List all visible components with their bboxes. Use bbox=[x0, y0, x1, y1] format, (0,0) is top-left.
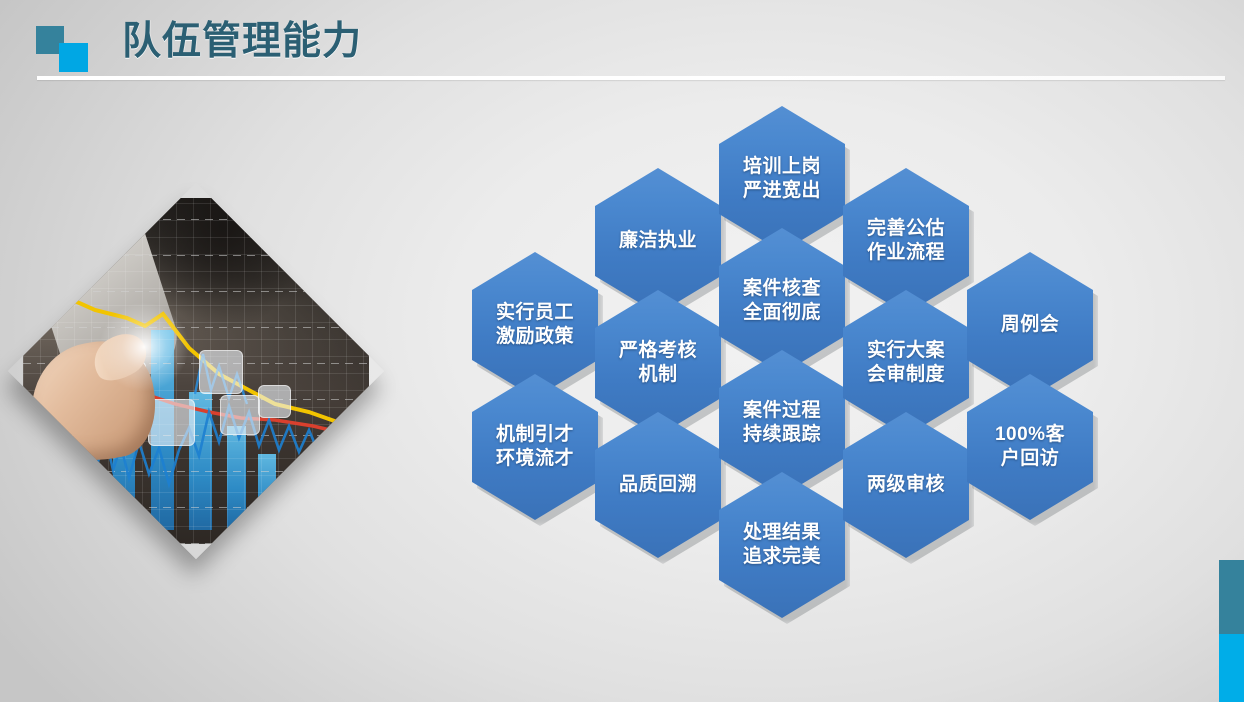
hexagon-label: 处理结果 追求完美 bbox=[743, 521, 821, 569]
hexagon-label: 严格考核 机制 bbox=[619, 339, 697, 387]
corner-accent-cyan bbox=[1219, 634, 1244, 702]
hexagon-honeycomb: 实行员工 激励政策机制引才 环境流才廉洁执业严格考核 机制品质回溯培训上岗 严进… bbox=[0, 0, 1244, 702]
slide-canvas: 队伍管理能力 bbox=[0, 0, 1244, 702]
hexagon-label: 实行大案 会审制度 bbox=[867, 339, 945, 387]
corner-accent-teal bbox=[1219, 560, 1244, 634]
hexagon-label: 周例会 bbox=[1001, 313, 1060, 337]
hexagon-label: 100%客 户回访 bbox=[995, 423, 1065, 471]
hexagon-label: 品质回溯 bbox=[619, 473, 697, 497]
hexagon-label: 两级审核 bbox=[867, 473, 945, 497]
hexagon-label: 培训上岗 严进宽出 bbox=[743, 155, 821, 203]
hexagon-label: 廉洁执业 bbox=[619, 229, 697, 253]
hexagon-label: 机制引才 环境流才 bbox=[496, 423, 574, 471]
hexagon-label: 实行员工 激励政策 bbox=[496, 301, 574, 349]
hexagon-label: 案件核查 全面彻底 bbox=[743, 277, 821, 325]
hexagon-label: 完善公估 作业流程 bbox=[867, 217, 945, 265]
hexagon-label: 案件过程 持续跟踪 bbox=[743, 399, 821, 447]
